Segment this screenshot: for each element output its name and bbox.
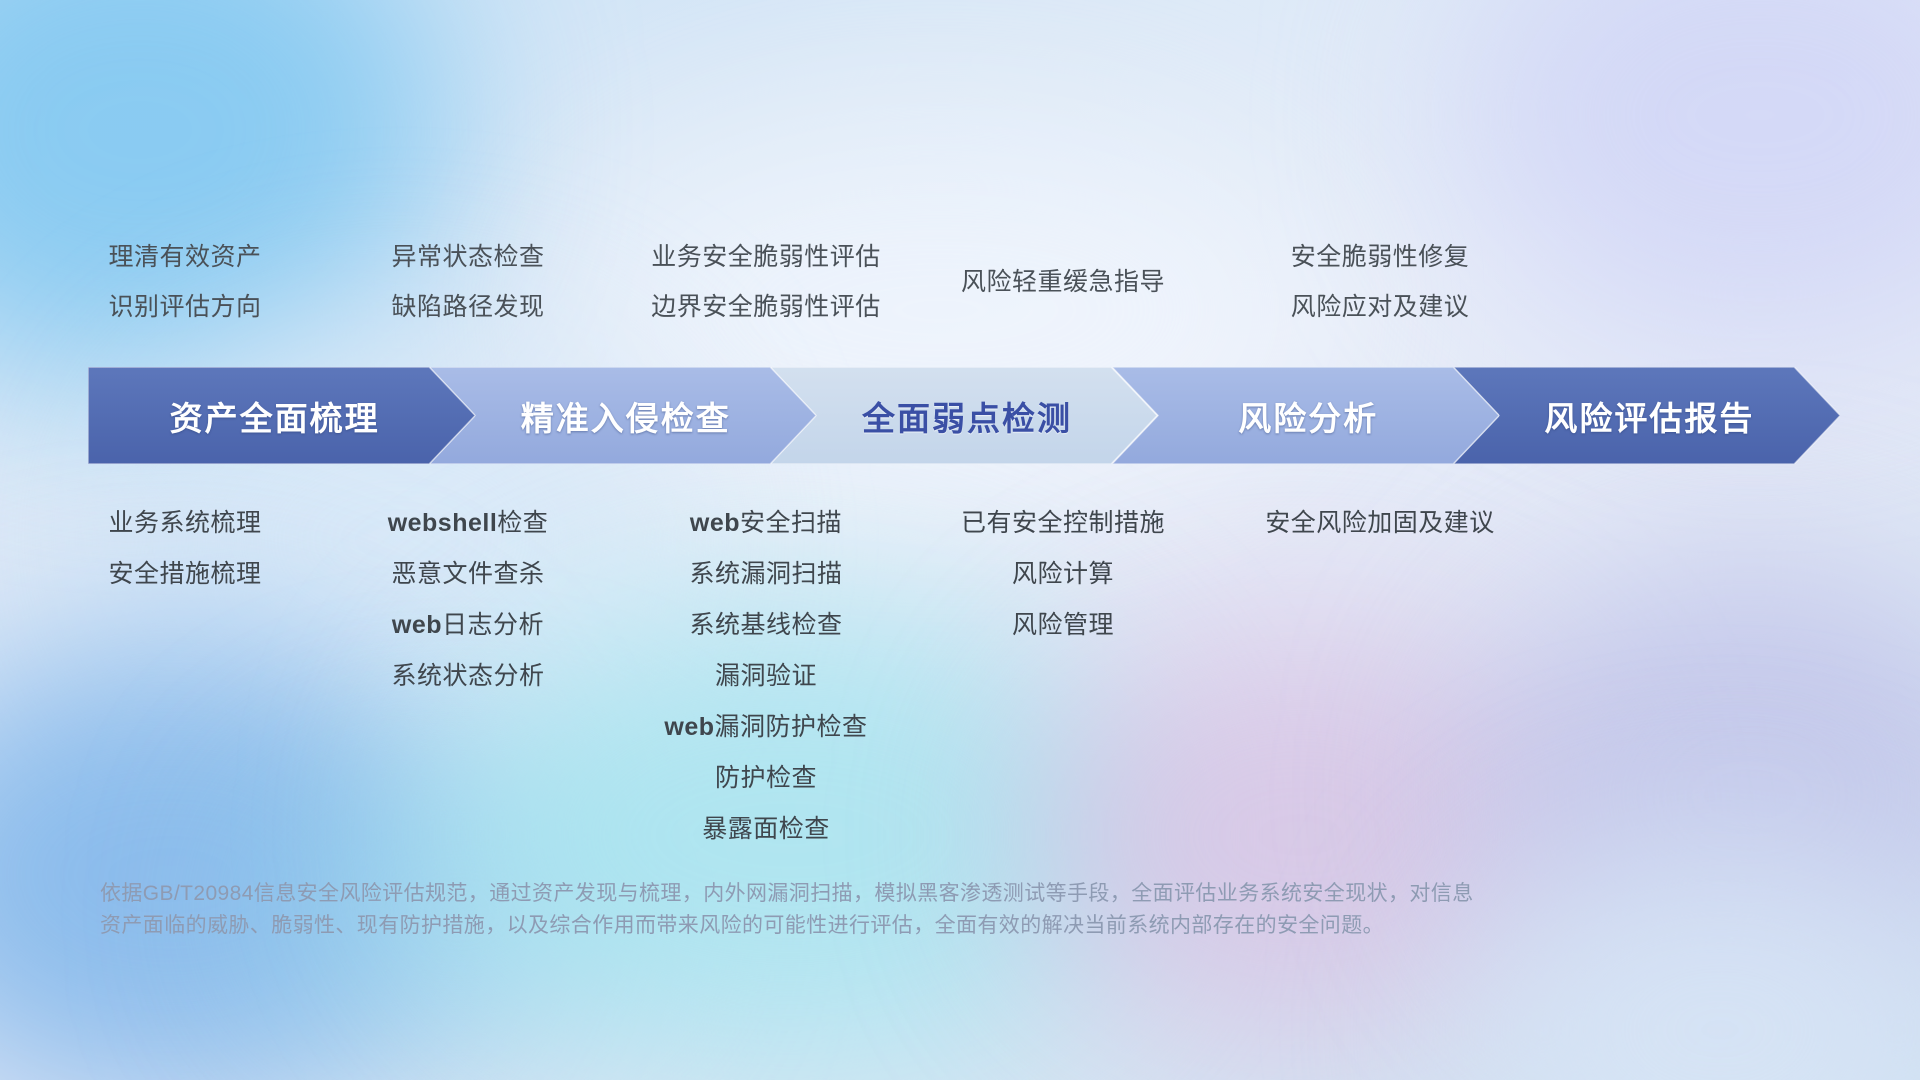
stage-arrow-2[interactable]: 精准入侵检查 [429,367,816,464]
bottom-item: 风险管理 [853,600,1273,651]
stage-arrow-label: 风险评估报告 [1544,392,1754,440]
stage-arrow-label: 精准入侵检查 [521,392,731,440]
stage-arrow-label: 全面弱点检测 [862,392,1072,440]
stage-arrow-5[interactable]: 风险评估报告 [1453,367,1840,464]
bottom-item: web漏洞防护检查 [556,702,976,753]
bottom-item-prefix: web [392,611,442,639]
bottom-item-prefix: web [664,713,714,741]
stage-arrow-3[interactable]: 全面弱点检测 [770,367,1157,464]
footer-line-1: 依据GB/T20984信息安全风险评估规范，通过资产发现与梳理，内外网漏洞扫描，… [100,878,1660,910]
stage-arrow-label: 资产全面梳理 [170,392,380,440]
bottom-item: 安全风险加固及建议 [1170,498,1590,549]
top-item: 安全脆弱性修复 [1180,232,1580,282]
bottom-item: 暴露面检查 [556,804,976,855]
infographic-canvas: 理清有效资产识别评估方向异常状态检查缺陷路径发现业务安全脆弱性评估边界安全脆弱性… [0,0,1920,1080]
stage-arrow-1[interactable]: 资产全面梳理 [88,367,475,464]
bottom-column-5: 安全风险加固及建议 [1170,498,1590,549]
bottom-item-prefix: webshell [388,509,498,537]
top-item: 风险应对及建议 [1180,282,1580,332]
bottom-item: 防护检查 [556,753,976,804]
stage-arrow-label: 风险分析 [1238,392,1378,440]
stage-arrow-4[interactable]: 风险分析 [1112,367,1499,464]
bottom-item: 风险计算 [853,549,1273,600]
bottom-item-prefix: web [690,509,740,537]
footer-line-2: 资产面临的威胁、脆弱性、现有防护措施，以及综合作用而带来风险的可能性进行评估，全… [100,910,1660,942]
process-arrow-band: 资产全面梳理精准入侵检查全面弱点检测风险分析风险评估报告 [88,367,1840,464]
top-column-5: 安全脆弱性修复风险应对及建议 [1170,232,1590,332]
footer-description: 依据GB/T20984信息安全风险评估规范，通过资产发现与梳理，内外网漏洞扫描，… [100,878,1660,942]
bottom-item: 漏洞验证 [556,651,976,702]
